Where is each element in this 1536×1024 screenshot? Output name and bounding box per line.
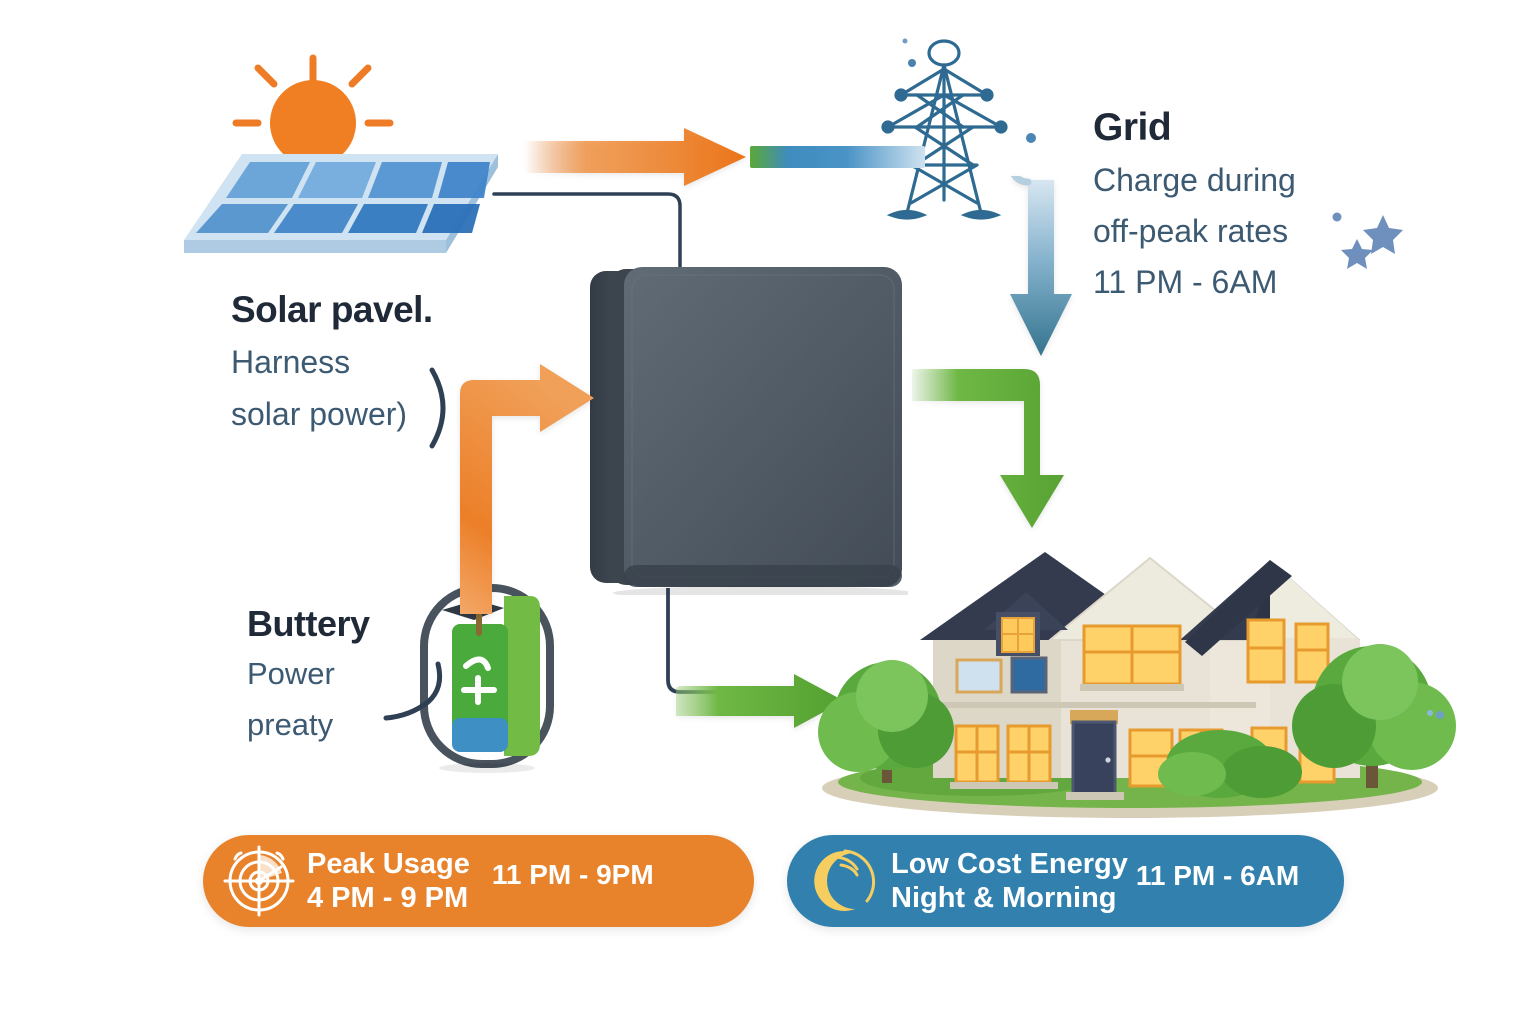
grid-gradient-bar	[750, 146, 925, 168]
crescent-moon-icon	[805, 843, 881, 919]
battery-subtitle-line-2: preaty	[247, 703, 370, 747]
solar-subtitle-line-2: solar power)	[231, 392, 433, 436]
battery-title: Buttery	[247, 603, 370, 645]
pill-peak-usage-text: Peak Usage 4 PM - 9 PM	[307, 848, 470, 915]
grid-subtitle-line-3: 11 PM - 6AM	[1093, 260, 1296, 304]
grid-title: Grid	[1093, 105, 1296, 151]
solar-to-grid-arrow	[524, 126, 749, 188]
pill-low-cost-energy[interactable]: Low Cost Energy Night & Morning 11 PM - …	[787, 835, 1344, 927]
grid-to-inverter-arrow	[998, 176, 1088, 366]
battery-label-connector	[380, 660, 450, 740]
pill-low-cost-energy-title: Low Cost Energy	[891, 848, 1128, 881]
star-small-icon	[1341, 239, 1373, 269]
solar-subtitle-line-1: Harness	[231, 340, 433, 384]
grid-subtitle-line-1: Charge during	[1093, 158, 1296, 202]
infographic-canvas: Solar pavel. Harness solar power)	[0, 0, 1536, 1024]
pill-peak-usage-subtitle: 4 PM - 9 PM	[307, 881, 470, 915]
grid-label-block: Grid Charge during off-peak rates 11 PM …	[1093, 105, 1296, 304]
star-dot-icon	[1333, 213, 1342, 222]
battery-subtitle-line-1: Power	[247, 652, 370, 696]
battery-to-inverter-arrow	[444, 358, 604, 616]
solar-panel-with-sun-icon	[170, 50, 520, 280]
star-large-icon	[1363, 215, 1403, 254]
pill-low-cost-energy-text: Low Cost Energy Night & Morning	[891, 848, 1128, 915]
solar-title: Solar pavel.	[231, 288, 433, 332]
house-with-trees-icon	[800, 520, 1460, 820]
grid-subtitle-line-2: off-peak rates	[1093, 209, 1296, 253]
pill-low-cost-energy-time: 11 PM - 6AM	[1136, 861, 1299, 891]
pill-low-cost-energy-subtitle: Night & Morning	[891, 881, 1128, 915]
inverter-to-home-arrow	[912, 363, 1092, 533]
pill-peak-usage[interactable]: Peak Usage 4 PM - 9 PM 11 PM - 9PM	[203, 835, 754, 927]
gauge-meter-icon	[221, 843, 297, 919]
battery-label-block: Buttery Power preaty	[247, 603, 370, 747]
pill-peak-usage-time: 11 PM - 9PM	[492, 860, 654, 890]
star-decorations	[1320, 195, 1430, 275]
pill-peak-usage-title: Peak Usage	[307, 848, 470, 881]
solar-label-block: Solar pavel. Harness solar power)	[231, 288, 433, 436]
